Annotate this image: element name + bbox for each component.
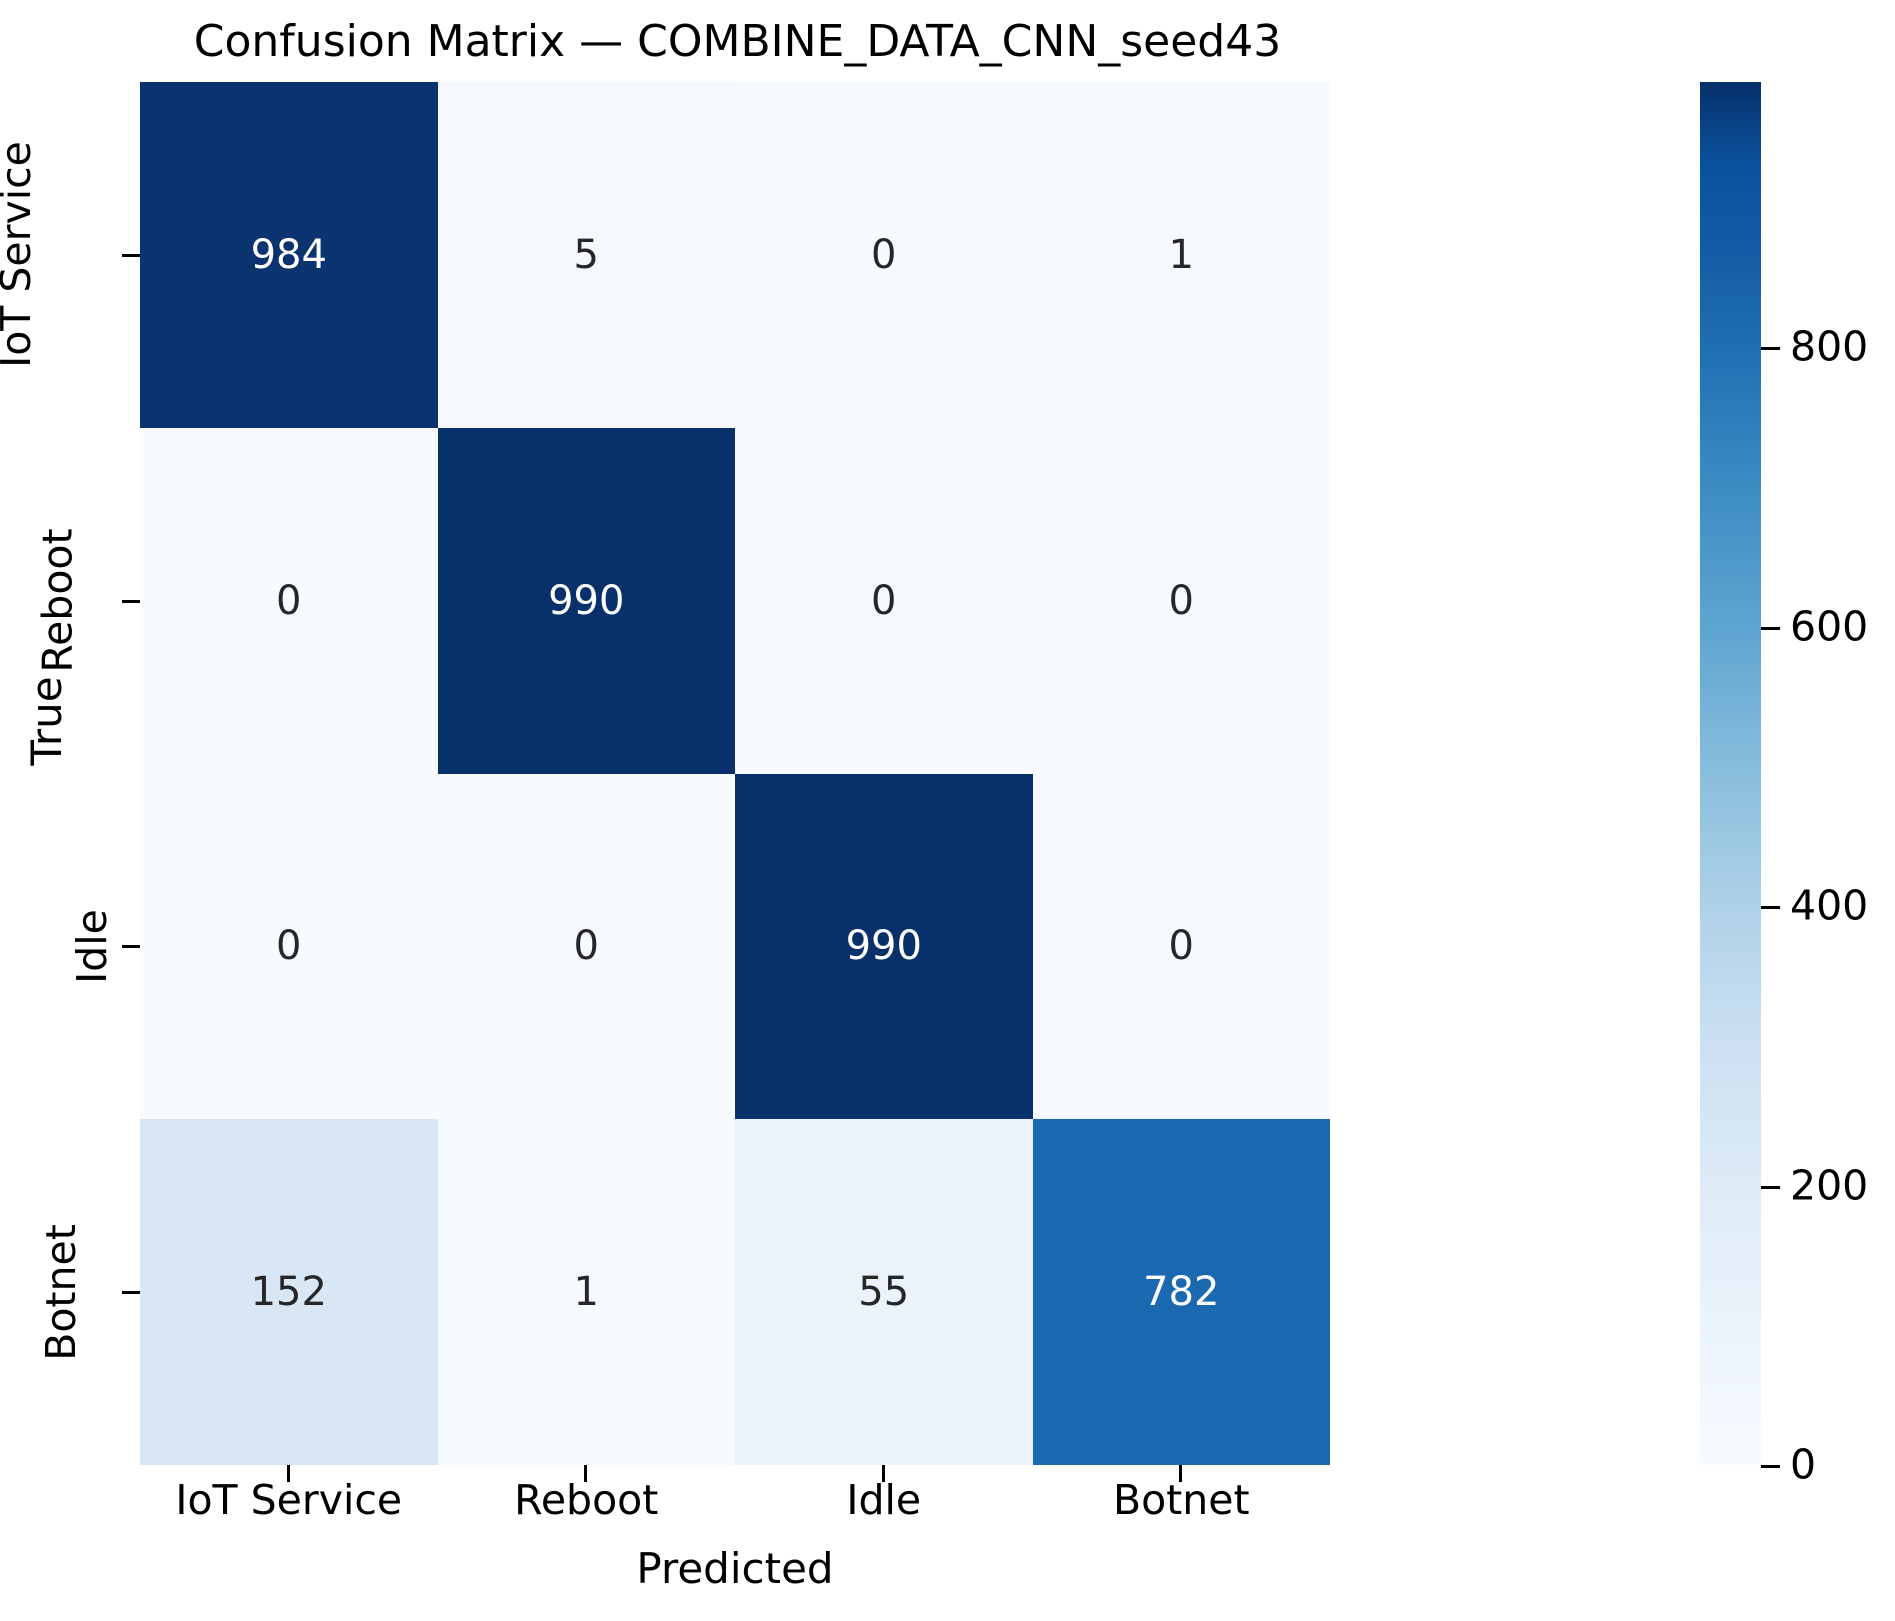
cell-r3-c1[interactable]: 1	[438, 1119, 736, 1465]
y-tick-label: IoT Service	[0, 141, 37, 368]
cell-value: 990	[846, 926, 922, 966]
x-tick-iot-service: IoT Service	[140, 1480, 438, 1521]
x-tick-reboot: Reboot	[438, 1480, 736, 1521]
confusion-matrix-figure: Confusion Matrix — COMBINE_DATA_CNN_seed…	[0, 0, 1895, 1621]
colorbar-tickmark-0	[1761, 1465, 1780, 1468]
colorbar[interactable]	[1700, 82, 1761, 1465]
y-tick-label: Botnet	[41, 1224, 82, 1361]
cell-r1-c2[interactable]: 0	[735, 428, 1033, 774]
cell-r3-c0[interactable]: 152	[140, 1119, 438, 1465]
colorbar-tickmark-600	[1761, 627, 1780, 630]
cell-value: 782	[1143, 1272, 1219, 1312]
cell-value: 5	[574, 235, 599, 275]
cell-r1-c1[interactable]: 990	[438, 428, 736, 774]
x-tick-idle: Idle	[735, 1480, 1033, 1521]
x-axis-label: Predicted	[140, 1548, 1330, 1590]
colorbar-tick-label-400: 400	[1790, 886, 1868, 927]
cell-value: 0	[574, 926, 599, 966]
colorbar-tick-label-600: 600	[1790, 606, 1868, 647]
cell-r0-c0[interactable]: 984	[140, 82, 438, 428]
cell-value: 0	[276, 581, 301, 621]
y-tickmark-2	[122, 945, 140, 948]
chart-title: Confusion Matrix — COMBINE_DATA_CNN_seed…	[140, 14, 1335, 70]
cell-r0-c2[interactable]: 0	[735, 82, 1033, 428]
y-tick-label: Idle	[72, 909, 113, 984]
cell-r3-c2[interactable]: 55	[735, 1119, 1033, 1465]
cell-r2-c0[interactable]: 0	[140, 774, 438, 1120]
y-tickmark-1	[122, 600, 140, 603]
cell-r3-c3[interactable]: 782	[1033, 1119, 1331, 1465]
y-tick-reboot: Reboot	[0, 428, 130, 774]
cell-value: 0	[1169, 581, 1194, 621]
cell-value: 55	[858, 1272, 909, 1312]
colorbar-tickmark-800	[1761, 347, 1780, 350]
y-tickmark-3	[122, 1291, 140, 1294]
colorbar-tickmark-400	[1761, 906, 1780, 909]
y-tick-idle: Idle	[0, 774, 130, 1120]
cell-r0-c1[interactable]: 5	[438, 82, 736, 428]
cell-value: 1	[574, 1272, 599, 1312]
cell-r2-c2[interactable]: 990	[735, 774, 1033, 1120]
colorbar-tickmark-200	[1761, 1186, 1780, 1189]
cell-value: 0	[871, 235, 896, 275]
colorbar-tick-label-0: 0	[1790, 1445, 1816, 1486]
cell-value: 984	[251, 235, 327, 275]
cell-value: 152	[251, 1272, 327, 1312]
cell-r2-c3[interactable]: 0	[1033, 774, 1331, 1120]
cell-r0-c3[interactable]: 1	[1033, 82, 1331, 428]
cell-r1-c0[interactable]: 0	[140, 428, 438, 774]
colorbar-tick-label-800: 800	[1790, 327, 1868, 368]
cell-value: 0	[1169, 926, 1194, 966]
cell-r2-c1[interactable]: 0	[438, 774, 736, 1120]
heatmap-grid: 984 5 0 1 0 990 0 0 0 0 990 0 152 1 55 7…	[140, 82, 1330, 1465]
y-tick-label: Reboot	[37, 529, 78, 673]
cell-r1-c3[interactable]: 0	[1033, 428, 1331, 774]
y-tick-botnet: Botnet	[0, 1119, 130, 1465]
cell-value: 990	[548, 581, 624, 621]
colorbar-tick-label-200: 200	[1790, 1165, 1868, 1206]
cell-value: 0	[276, 926, 301, 966]
y-tick-iot-service: IoT Service	[0, 82, 130, 428]
y-tickmark-0	[122, 254, 140, 257]
x-tick-botnet: Botnet	[1033, 1480, 1331, 1521]
cell-value: 1	[1169, 235, 1194, 275]
cell-value: 0	[871, 581, 896, 621]
